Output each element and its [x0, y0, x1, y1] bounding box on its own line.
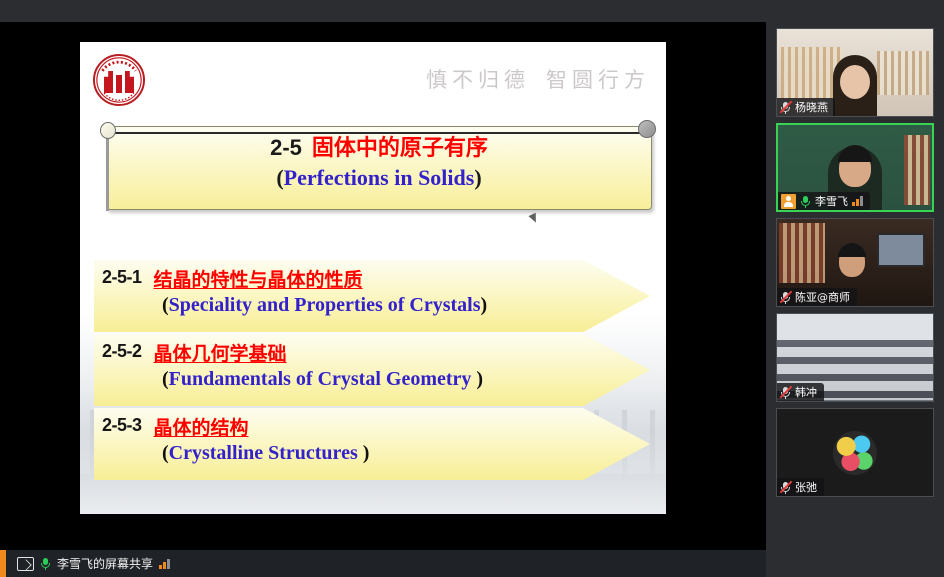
monitor-background — [877, 233, 925, 267]
title-close-paren: ) — [474, 165, 481, 190]
signal-bars-icon — [159, 559, 170, 569]
title-line-2: (Perfections in Solids) — [106, 166, 652, 191]
motto-group-2: 智圆行方 — [546, 64, 650, 94]
title-number: 2-5 — [270, 135, 302, 160]
outline-row-3: 2-5-3 晶体的结构 (Crystalline Structures ) — [94, 408, 650, 480]
bookshelf-background — [904, 135, 930, 205]
emblem-ring — [95, 56, 143, 104]
screen-share-status-text: 李雪飞的屏幕共享 — [57, 555, 153, 572]
outline-row-2-open-paren: ( — [162, 368, 169, 390]
participant-label: 陈亚@商师 — [777, 288, 857, 306]
outline-row-2-number: 2-5-2 — [102, 339, 142, 362]
outline-row-3-line-1: 2-5-3 晶体的结构 — [102, 413, 650, 440]
participant-name: 张弛 — [795, 479, 817, 495]
mic-muted-icon[interactable] — [780, 481, 791, 494]
mic-on-icon[interactable] — [800, 195, 811, 208]
outline-row-3-open-paren: ( — [162, 442, 169, 464]
outline-row-2-chinese: 晶体几何学基础 — [154, 339, 287, 366]
participant-video-strip[interactable]: 杨晓燕 李雪飞 — [766, 0, 944, 577]
university-emblem-logo — [93, 54, 145, 106]
outline-row-1-english: Speciality and Properties of Crystals — [169, 294, 481, 316]
app-window: 慎不归德 智圆行方 2-5固体中的原子有序 (Perfections in So… — [0, 0, 944, 577]
classroom-ceiling — [777, 314, 933, 340]
outline-row-2-line-1: 2-5-2 晶体几何学基础 — [102, 339, 650, 366]
title-english: Perfections in Solids — [284, 165, 475, 190]
presentation-slide: 慎不归德 智圆行方 2-5固体中的原子有序 (Perfections in So… — [80, 42, 666, 514]
participant-name: 陈亚@商师 — [795, 289, 850, 305]
participant-tile-hanchong[interactable]: 韩冲 — [776, 313, 934, 402]
participant-label: 李雪飞 — [778, 192, 870, 210]
mic-muted-icon[interactable] — [780, 386, 791, 399]
participant-name: 李雪飞 — [815, 193, 848, 209]
outline-row-1: 2-5-1 结晶的特性与晶体的性质 (Speciality and Proper… — [94, 260, 650, 332]
mouse-cursor-icon — [528, 213, 539, 225]
shared-screen-region[interactable]: 慎不归德 智圆行方 2-5固体中的原子有序 (Perfections in So… — [0, 22, 766, 550]
outline-row-1-open-paren: ( — [162, 294, 169, 316]
slide-title: 2-5固体中的原子有序 (Perfections in Solids) — [106, 136, 652, 190]
outline-row-1-line-1: 2-5-1 结晶的特性与晶体的性质 — [102, 265, 650, 292]
mic-muted-icon[interactable] — [780, 101, 791, 114]
participant-tile-zhangchi[interactable]: 张弛 — [776, 408, 934, 497]
outline-row-2-close-paren: ) — [476, 368, 483, 390]
outline-row-1-line-2: (Speciality and Properties of Crystals) — [102, 294, 650, 317]
bookshelf-background-right — [877, 51, 929, 95]
title-scroll-banner: 2-5固体中的原子有序 (Perfections in Solids) — [92, 120, 652, 212]
title-open-paren: ( — [276, 165, 283, 190]
screen-share-status-bar: 李雪飞的屏幕共享 — [0, 550, 766, 577]
outline-row-3-line-2: (Crystalline Structures ) — [102, 442, 650, 465]
outline-row-3-chinese: 晶体的结构 — [154, 413, 249, 440]
participant-name: 韩冲 — [795, 384, 817, 400]
status-accent-strip — [0, 550, 6, 577]
outline-row-2-english: Fundamentals of Crystal Geometry — [169, 368, 477, 390]
host-badge-icon — [781, 194, 796, 209]
participant-face — [840, 65, 870, 99]
outline-row-1-content: 2-5-1 结晶的特性与晶体的性质 (Speciality and Proper… — [94, 260, 650, 332]
mic-muted-icon[interactable] — [780, 291, 791, 304]
outline-row-1-close-paren: ) — [481, 294, 488, 316]
participant-hair — [838, 243, 866, 257]
outline-row-3-number: 2-5-3 — [102, 413, 142, 436]
participant-tile-chenya[interactable]: 陈亚@商师 — [776, 218, 934, 307]
outline-row-3-content: 2-5-3 晶体的结构 (Crystalline Structures ) — [94, 408, 650, 480]
outline-row-3-close-paren: ) — [363, 442, 370, 464]
bookshelf-background — [779, 223, 825, 283]
title-line-1: 2-5固体中的原子有序 — [106, 136, 652, 162]
participant-label: 张弛 — [777, 478, 824, 496]
participant-label: 韩冲 — [777, 383, 824, 401]
avatar — [833, 431, 877, 475]
outline-row-1-number: 2-5-1 — [102, 265, 142, 288]
participant-tile-yangxiaoyan[interactable]: 杨晓燕 — [776, 28, 934, 117]
participant-name: 杨晓燕 — [795, 99, 828, 115]
banner-top-rod — [108, 132, 640, 134]
outline-row-2-line-2: (Fundamentals of Crystal Geometry ) — [102, 368, 650, 391]
mic-on-icon[interactable] — [40, 557, 51, 570]
terrace-floor-decoration — [80, 474, 666, 514]
motto-group-1: 慎不归德 — [426, 64, 530, 94]
outline-row-2: 2-5-2 晶体几何学基础 (Fundamentals of Crystal G… — [94, 334, 650, 406]
outline-row-3-english: Crystalline Structures — [169, 442, 363, 464]
top-chrome-band — [0, 0, 766, 22]
outline-row-2-content: 2-5-2 晶体几何学基础 (Fundamentals of Crystal G… — [94, 334, 650, 406]
seal-script-motto: 慎不归德 智圆行方 — [426, 64, 650, 94]
participant-hair — [838, 145, 872, 162]
participant-label: 杨晓燕 — [777, 98, 835, 116]
title-chinese: 固体中的原子有序 — [312, 136, 488, 161]
screen-share-icon[interactable] — [17, 557, 34, 571]
signal-bars-icon — [852, 196, 863, 206]
participant-tile-lixuefei[interactable]: 李雪飞 — [776, 123, 934, 212]
outline-row-1-chinese: 结晶的特性与晶体的性质 — [154, 265, 363, 292]
